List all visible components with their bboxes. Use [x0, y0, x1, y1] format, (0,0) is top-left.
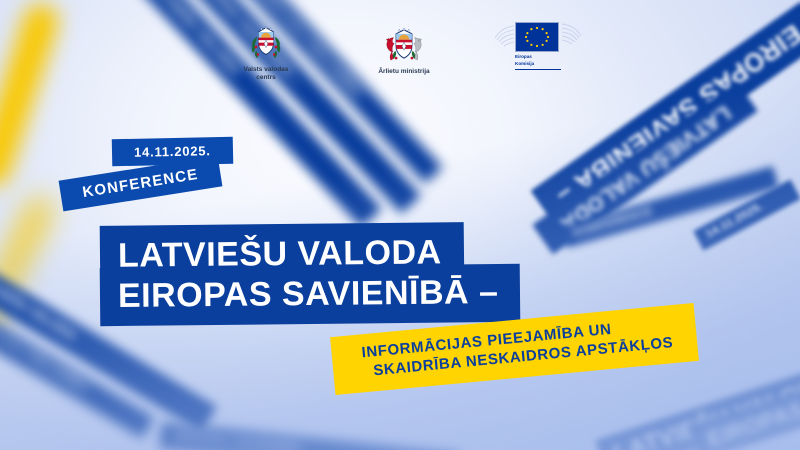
logo-valsts-valodas-centrs: Valsts valodas centrs [220, 22, 312, 82]
decorative-banner-bottom-middle: EIROPAS SAVIENĪBĀ – [159, 422, 460, 450]
logo-arlietu-ministrija: Ārlietu ministrija [358, 22, 450, 82]
logo-caption-line-1: Valsts valodas [244, 66, 289, 74]
logo-caption-line-1: Ārlietu ministrija [378, 68, 429, 76]
commission-wave-left-icon [493, 22, 515, 56]
logo-row: Valsts valodas centrs [0, 22, 800, 82]
logo-eiropas-komisija: Eiropas Komisija [496, 22, 580, 82]
commission-wave-right-icon [561, 22, 583, 56]
eu-stars-icon [516, 23, 558, 51]
eu-caption-line-2: Komisija [515, 61, 561, 66]
logo-caption-arlietu-ministrija: Ārlietu ministrija [378, 68, 429, 76]
title-block-line-2: EIROPAS SAVIENĪBĀ – [100, 264, 521, 326]
eu-caption-line-1: Eiropas [515, 54, 561, 59]
european-commission-logo: Eiropas Komisija [493, 22, 583, 70]
latvian-state-coat-of-arms-icon [381, 22, 427, 64]
eu-logo-rule [515, 69, 561, 71]
eu-flag-icon [515, 22, 559, 52]
latvian-coat-of-arms-icon [246, 22, 286, 62]
logo-caption-line-2: centrs [244, 74, 289, 82]
logo-caption-valsts-valodas-centrs: Valsts valodas centrs [244, 66, 289, 82]
conference-poster: LATVIEŠU VALODA EIROPAS SAVIENĪBĀ – INFO… [0, 0, 800, 450]
page-title-line-2: EIROPAS SAVIENĪBĀ – [118, 272, 499, 316]
